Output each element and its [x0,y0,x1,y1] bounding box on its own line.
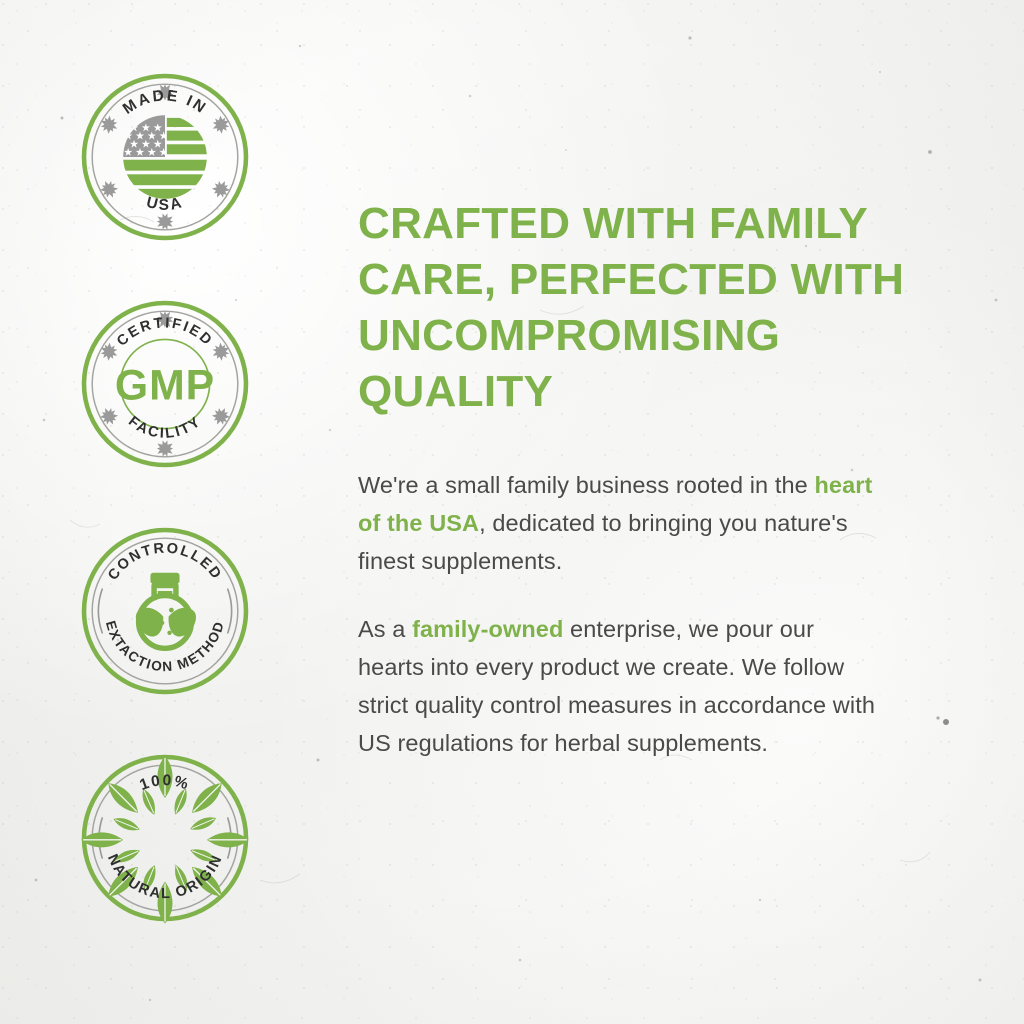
paragraph-intro: We're a small family business rooted in … [358,466,883,580]
page-title: CRAFTED WITH FAMILY CARE, PERFECTED WITH… [358,196,906,420]
emphasized-text: family-owned [412,616,563,642]
trust-badge-column: MADE IN USA MADE IN USA [0,0,330,1024]
gmp-text-icon: GMP [115,361,215,409]
text-column: CRAFTED WITH FAMILY CARE, PERFECTED WITH… [330,0,1024,1024]
flask-leaf-icon [136,573,196,649]
badge-made-in-usa: MADE IN USA MADE IN USA [74,66,256,248]
badge-controlled-extraction-method: CONTROLLED EXTACTION METHOD CONTROLLED E… [74,520,256,702]
badge-gmp-certified-facility: GMP CERTIFIED FACILITY CERTIFIED GMP FAC… [74,293,256,475]
usa-flag-circle-icon [121,115,212,200]
svg-text:FACILITY: FACILITY [125,413,205,442]
body-text: As a [358,616,412,642]
body-text: We're a small family business rooted in … [358,472,814,498]
infographic-page: MADE IN USA MADE IN USA [0,0,1024,1024]
svg-text:USA: USA [145,194,186,214]
badge-natural-origin: 100% NATURAL ORIGIN 100% NATURAL ORIGIN [74,747,256,929]
paragraph-quality: As a family-owned enterprise, we pour ou… [358,610,883,762]
